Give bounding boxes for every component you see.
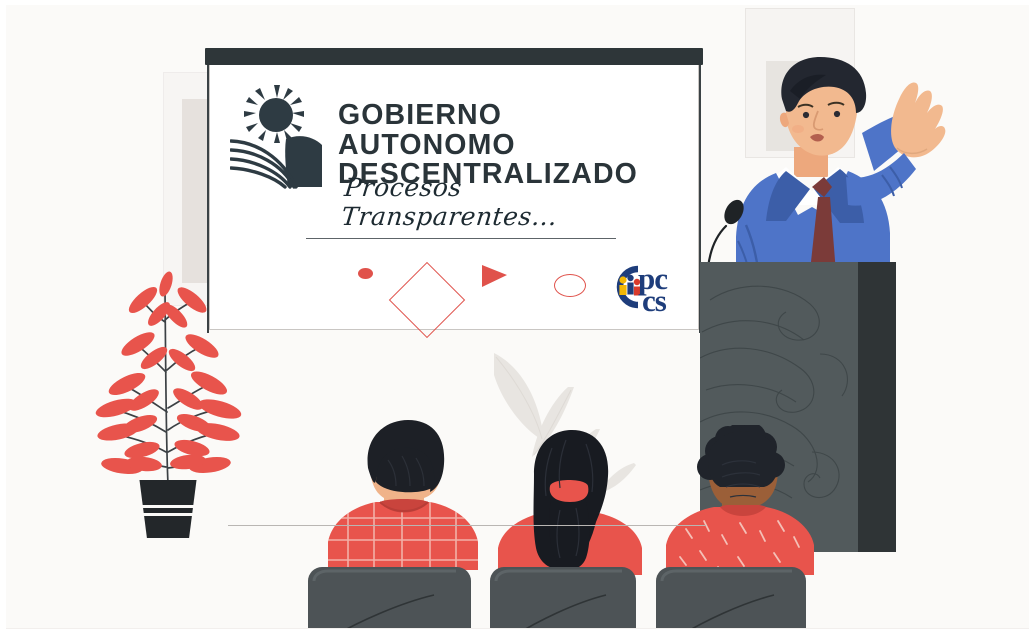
screen-top-bar <box>205 48 703 65</box>
presenter-head <box>780 57 866 156</box>
decor-filled-dot <box>358 268 373 279</box>
canvas-margin-top <box>0 0 1035 5</box>
slide-divider <box>306 238 616 239</box>
plant-pot-stripe-1 <box>140 505 196 508</box>
presentation-illustration: GOBIERNO AUTONOMO DESCENTRALIZADO Proces… <box>0 0 1035 643</box>
canvas-margin-right <box>1029 0 1035 643</box>
potted-plant <box>82 262 257 542</box>
plant-pot-stripe-2 <box>140 513 196 516</box>
presenter-hand <box>891 83 945 158</box>
projector-screen: GOBIERNO AUTONOMO DESCENTRALIZADO Proces… <box>205 48 703 333</box>
cpccs-logo: pc cs <box>608 263 684 323</box>
audience-member-2 <box>490 430 650 575</box>
canvas-margin-bottom <box>0 629 1035 643</box>
screen-surface: GOBIERNO AUTONOMO DESCENTRALIZADO Proces… <box>209 65 699 330</box>
decor-triangle <box>482 265 507 287</box>
slide-subtitle: Procesos Transparentes... <box>340 173 687 231</box>
audience-member-3 <box>660 425 820 575</box>
cpccs-text-cs: cs <box>642 283 666 319</box>
decor-ring-outline <box>554 274 586 297</box>
decor-diamond-outline <box>389 262 465 338</box>
audience-member-1 <box>318 420 488 570</box>
slide-title-line1: GOBIERNO AUTONOMO <box>338 99 516 161</box>
canvas-margin-left <box>0 0 6 643</box>
plant-pot <box>137 480 199 538</box>
microphone <box>700 188 756 268</box>
lectern-side <box>858 262 896 552</box>
floor-line <box>228 525 706 526</box>
sun-hill-waves-emblem <box>230 83 335 193</box>
